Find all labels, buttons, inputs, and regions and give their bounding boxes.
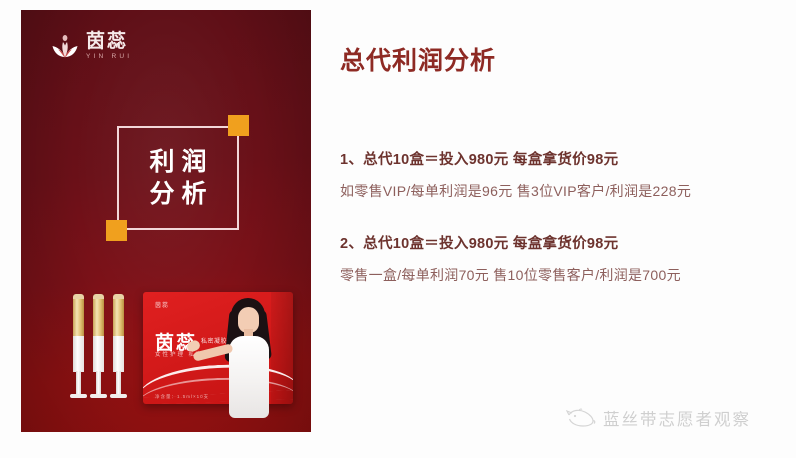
feature-headline-block: 利润 分析 <box>117 126 239 230</box>
profit-item-2-detail: 零售一盒/每单利润70元 售10位零售客户/利润是700元 <box>340 265 770 285</box>
syringe-applicator <box>73 294 84 399</box>
profit-item-2: 2、总代10盒＝投入980元 每盒拿货价98元 零售一盒/每单利润70元 售10… <box>340 232 770 285</box>
promo-poster: 茵蕊 YIN RUI 利润 分析 <box>21 10 311 432</box>
watermark-text: 蓝丝带志愿者观察 <box>603 406 751 430</box>
whale-outline-icon <box>566 407 596 429</box>
feature-line-2: 分析 <box>142 182 213 207</box>
profit-item-1-headline: 1、总代10盒＝投入980元 每盒拿货价98元 <box>340 148 770 169</box>
brand-name-cn: 茵蕊 <box>86 32 128 51</box>
profit-item-1: 1、总代10盒＝投入980元 每盒拿货价98元 如零售VIP/每单利润是96元 … <box>340 148 770 201</box>
product-photo: 茵蕊 茵蕊 私密凝胶 女性护理 私密养护 净含量：1.5ml×10支 <box>21 282 311 432</box>
product-box-logo: 茵蕊 <box>155 300 169 309</box>
page-title: 总代利润分析 <box>340 41 496 77</box>
syringe-applicator <box>113 294 124 399</box>
content-panel: 总代利润分析 1、总代10盒＝投入980元 每盒拿货价98元 如零售VIP/每单… <box>340 0 790 458</box>
profit-item-2-headline: 2、总代10盒＝投入980元 每盒拿货价98元 <box>340 232 770 253</box>
profit-item-1-detail: 如零售VIP/每单利润是96元 售3位VIP客户/利润是228元 <box>340 181 770 201</box>
feature-headline-text: 利润 分析 <box>117 126 239 230</box>
brand-logo: 茵蕊 YIN RUI <box>50 32 132 61</box>
lotus-flower-icon <box>50 33 80 61</box>
brand-text: 茵蕊 YIN RUI <box>86 32 132 61</box>
slide-canvas: 茵蕊 YIN RUI 利润 分析 <box>0 0 796 458</box>
brand-name-en: YIN RUI <box>86 54 132 61</box>
syringe-applicator <box>93 294 104 399</box>
model-figure <box>217 296 279 418</box>
watermark: 蓝丝带志愿者观察 <box>566 406 751 430</box>
product-box-footer: 净含量：1.5ml×10支 <box>155 394 209 400</box>
syringe-applicators <box>73 294 133 402</box>
feature-line-1: 利润 <box>142 150 213 175</box>
model-dress <box>229 336 269 418</box>
